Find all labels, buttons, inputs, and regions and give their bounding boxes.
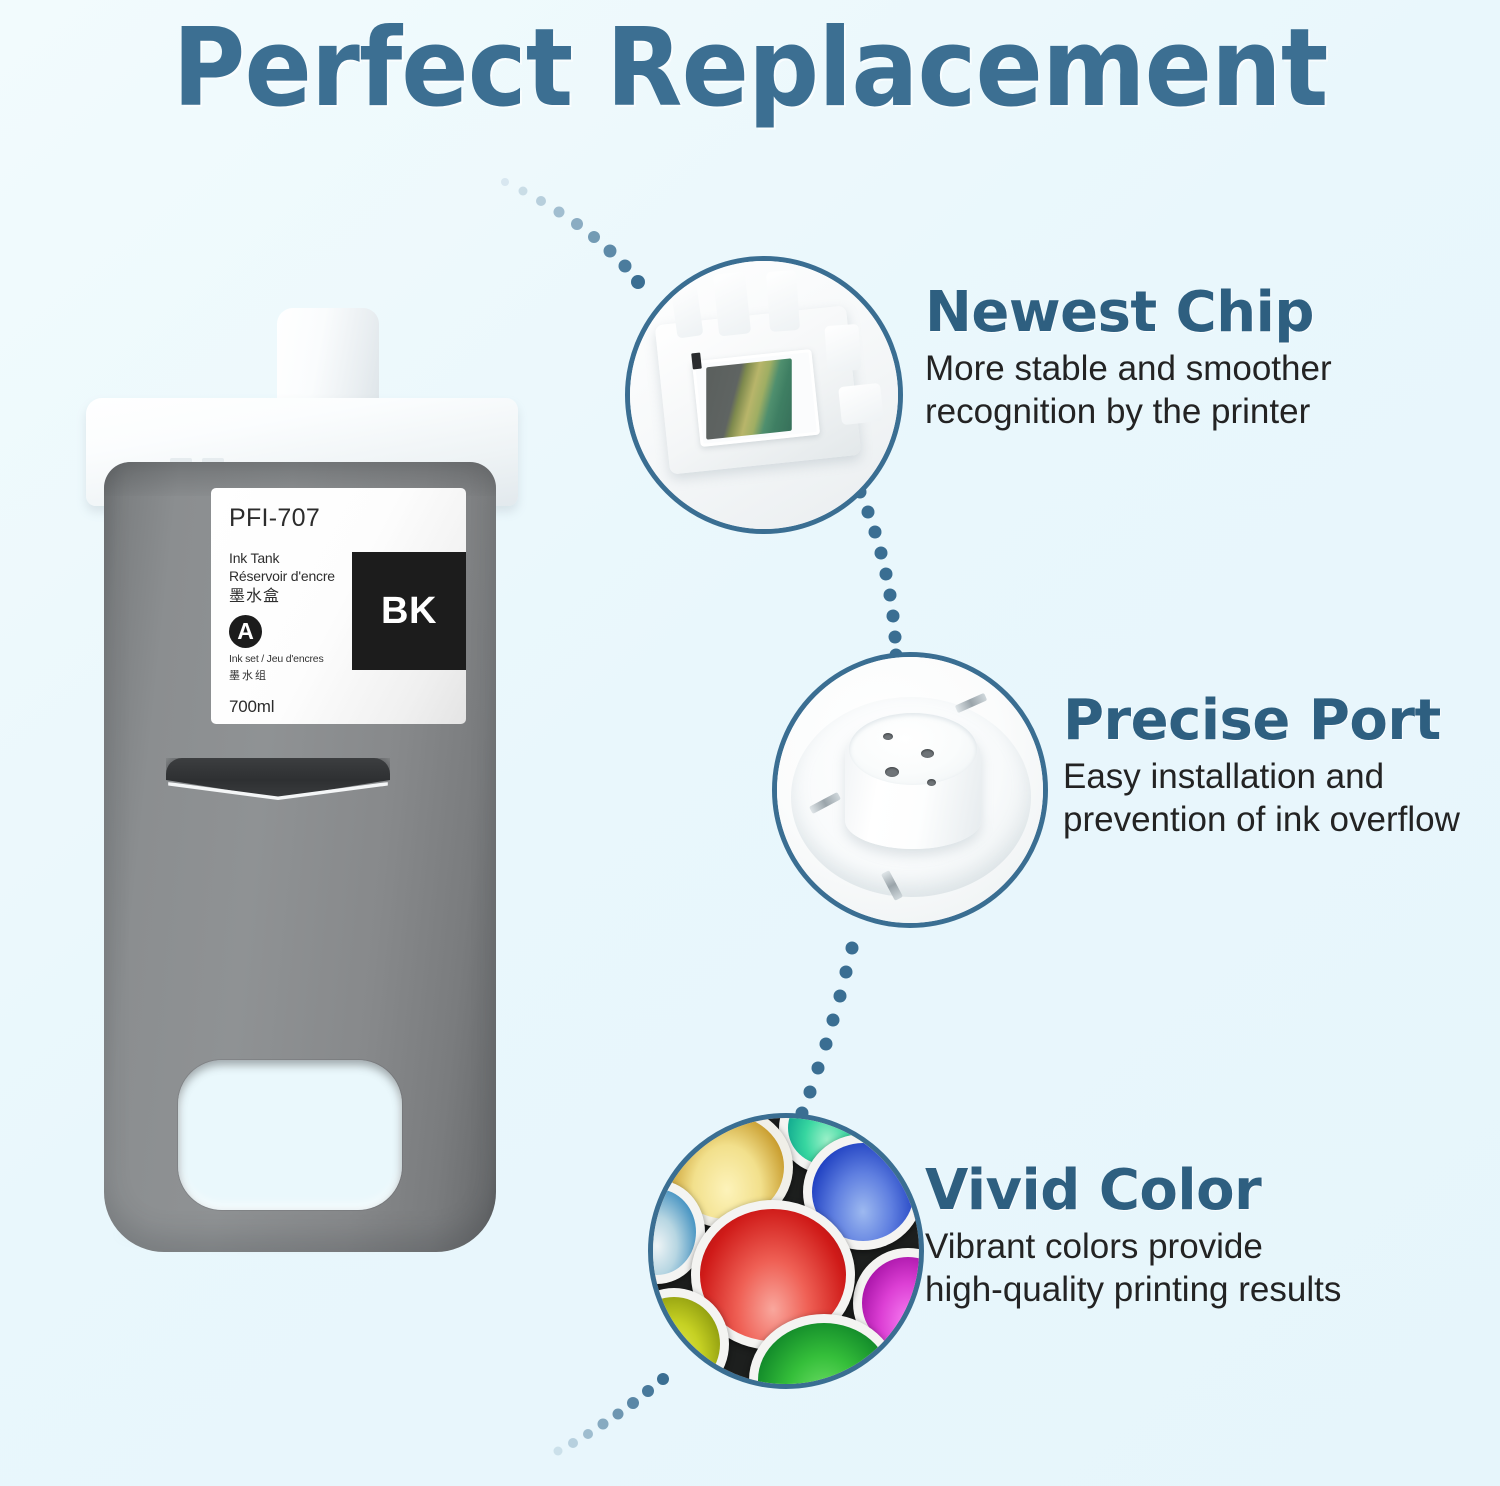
- port-hole-icon: [921, 749, 934, 758]
- feature-chip-heading: Newest Chip: [925, 284, 1332, 342]
- feature-port-body-line2: prevention of ink overflow: [1063, 799, 1460, 842]
- port-top-face: [849, 713, 977, 785]
- chip-die: [706, 358, 792, 439]
- feature-chip-body-line1: More stable and smoother: [925, 348, 1332, 391]
- chip-tab-icon: [766, 270, 800, 332]
- ink-color-code: BK: [381, 590, 437, 633]
- chip-tab-icon: [838, 383, 884, 425]
- ink-port-circle-photo: [772, 652, 1048, 928]
- feature-port-heading: Precise Port: [1063, 692, 1460, 750]
- feature-color: Vivid Color Vibrant colors provide high-…: [925, 1162, 1341, 1312]
- ink-cartridge-image: PFI-707 Ink Tank Réservoir d'encre 墨水盒 A…: [78, 300, 538, 1270]
- infographic-page: Perfect Replacement: [0, 0, 1500, 1486]
- cartridge-body: PFI-707 Ink Tank Réservoir d'encre 墨水盒 A…: [104, 462, 496, 1252]
- chip-tab-icon: [824, 324, 861, 372]
- cartridge-label: PFI-707 Ink Tank Réservoir d'encre 墨水盒 A…: [211, 488, 466, 724]
- label-volume: 700ml: [229, 697, 466, 717]
- label-model: PFI-707: [229, 504, 466, 533]
- port-hole-icon: [885, 767, 899, 777]
- chip-contact-pin: [691, 353, 702, 370]
- port-hole-icon: [927, 779, 936, 786]
- cartridge-handle-hole: [178, 1060, 402, 1210]
- feature-port: Precise Port Easy installation and preve…: [1063, 692, 1460, 842]
- paint-cans-circle-photo: [648, 1113, 924, 1389]
- feature-color-body-line2: high-quality printing results: [925, 1269, 1341, 1312]
- ink-set-badge-icon: A: [229, 615, 262, 648]
- grip-shadow: [166, 758, 390, 798]
- page-title: Perfect Replacement: [60, 6, 1440, 131]
- feature-color-heading: Vivid Color: [925, 1162, 1341, 1220]
- feature-chip: Newest Chip More stable and smoother rec…: [925, 284, 1332, 434]
- chip-tab-icon: [713, 271, 751, 336]
- feature-chip-body-line2: recognition by the printer: [925, 391, 1332, 434]
- ink-color-swatch: BK: [352, 552, 466, 670]
- chip-circle-photo: [625, 256, 903, 534]
- feature-color-body-line1: Vibrant colors provide: [925, 1226, 1341, 1269]
- port-hole-icon: [883, 733, 893, 740]
- chip-holder: [644, 273, 894, 523]
- feature-port-body-line1: Easy installation and: [1063, 756, 1460, 799]
- cartridge-grip-recess: [166, 758, 390, 798]
